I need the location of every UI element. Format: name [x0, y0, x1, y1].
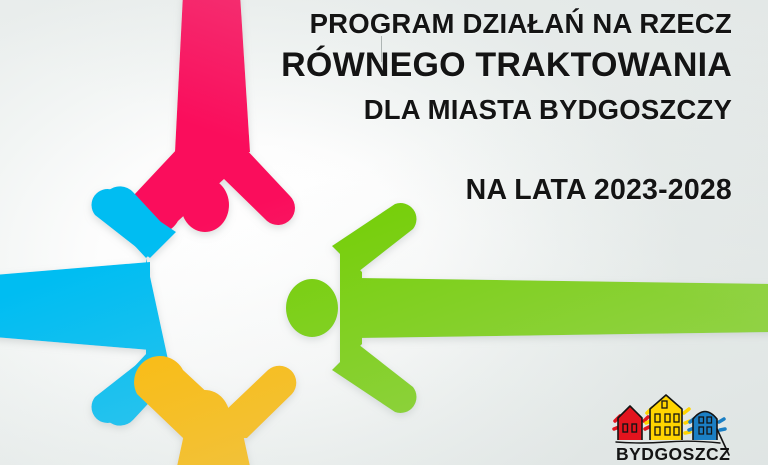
headline-line-4: NA LATA 2023-2028: [466, 173, 732, 207]
headline-line-1: PROGRAM DZIAŁAŃ NA RZECZ: [310, 7, 732, 40]
headline-line-2: RÓWNEGO TRAKTOWANIA: [281, 45, 732, 85]
house-yellow-icon: [646, 395, 690, 440]
headline-line-3: DLA MIASTA BYDGOSZCZY: [364, 93, 732, 126]
figure-right-green: [286, 203, 768, 413]
logo-wordmark: BYDGOSZCZ: [616, 444, 730, 463]
figure-left-body: [0, 262, 150, 350]
figure-bottom-orange: [134, 356, 296, 465]
house-red-icon: [614, 406, 649, 440]
bydgoszcz-city-logo: BYDGOSZCZ: [600, 391, 752, 463]
poster-canvas: PROGRAM DZIAŁAŃ NA RZECZ RÓWNEGO TRAKTOW…: [0, 0, 768, 465]
figure-bottom-head: [180, 390, 230, 446]
headline-block: PROGRAM DZIAŁAŃ NA RZECZ RÓWNEGO TRAKTOW…: [0, 0, 768, 230]
figure-right-body: [358, 278, 768, 338]
figure-left-head: [76, 285, 128, 343]
figure-right-head: [286, 279, 338, 337]
